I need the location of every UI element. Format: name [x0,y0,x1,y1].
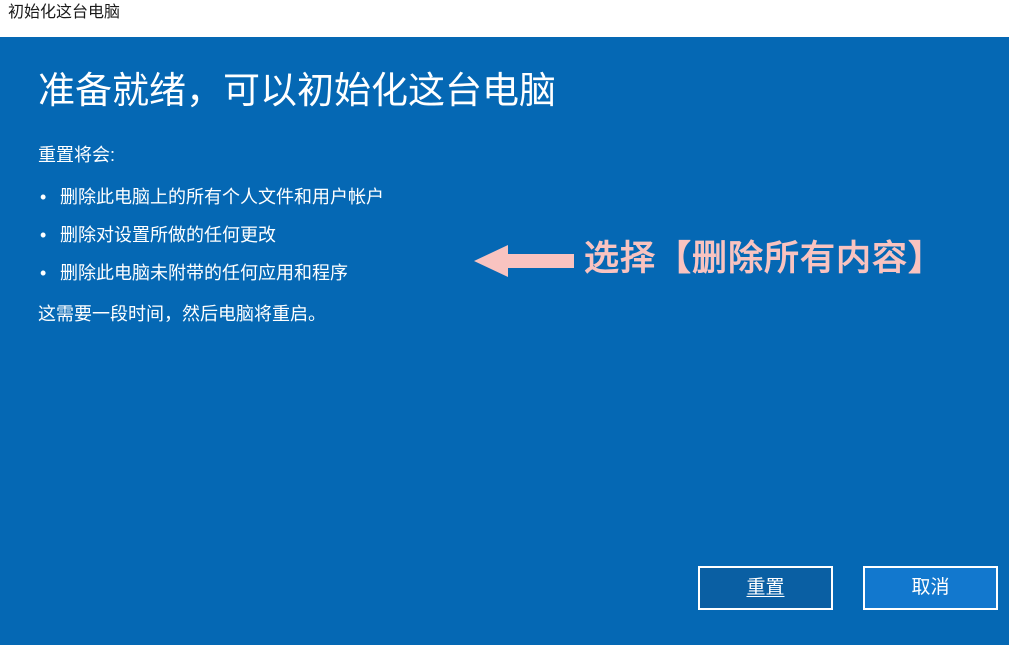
reset-button[interactable]: 重置 [698,566,833,610]
list-item-label: 删除此电脑未附带的任何应用和程序 [60,263,348,283]
list-item-label: 删除对设置所做的任何更改 [60,225,276,245]
intro-text: 重置将会: [38,142,115,168]
page-title: 准备就绪，可以初始化这台电脑 [38,68,556,114]
list-item: • 删除此电脑未附带的任何应用和程序 [38,254,384,292]
reset-effects-list: • 删除此电脑上的所有个人文件和用户帐户 • 删除对设置所做的任何更改 • 删除… [38,178,384,292]
left-arrow-icon [474,244,574,278]
window-title: 初始化这台电脑 [8,2,120,24]
outro-text: 这需要一段时间，然后电脑将重启。 [38,300,326,328]
reset-pc-dialog-screenshot: 初始化这台电脑 准备就绪，可以初始化这台电脑 重置将会: • 删除此电脑上的所有… [0,0,1009,645]
bullet-icon: • [40,216,46,254]
annotation-overlay: 选择【删除所有内容】 [474,223,999,293]
reset-button-label: 重置 [746,577,784,598]
bullet-icon: • [40,254,46,292]
cancel-button-label: 取消 [911,577,949,598]
window-title-bar: 初始化这台电脑 [0,0,1009,37]
cancel-button[interactable]: 取消 [863,566,998,610]
bullet-icon: • [40,178,46,216]
list-item: • 删除此电脑上的所有个人文件和用户帐户 [38,178,384,216]
list-item: • 删除对设置所做的任何更改 [38,216,384,254]
annotation-label: 选择【删除所有内容】 [584,234,944,284]
dialog-button-row: 重置 取消 [698,566,998,612]
list-item-label: 删除此电脑上的所有个人文件和用户帐户 [60,187,384,207]
dialog-content-panel: 准备就绪，可以初始化这台电脑 重置将会: • 删除此电脑上的所有个人文件和用户帐… [0,37,1009,645]
